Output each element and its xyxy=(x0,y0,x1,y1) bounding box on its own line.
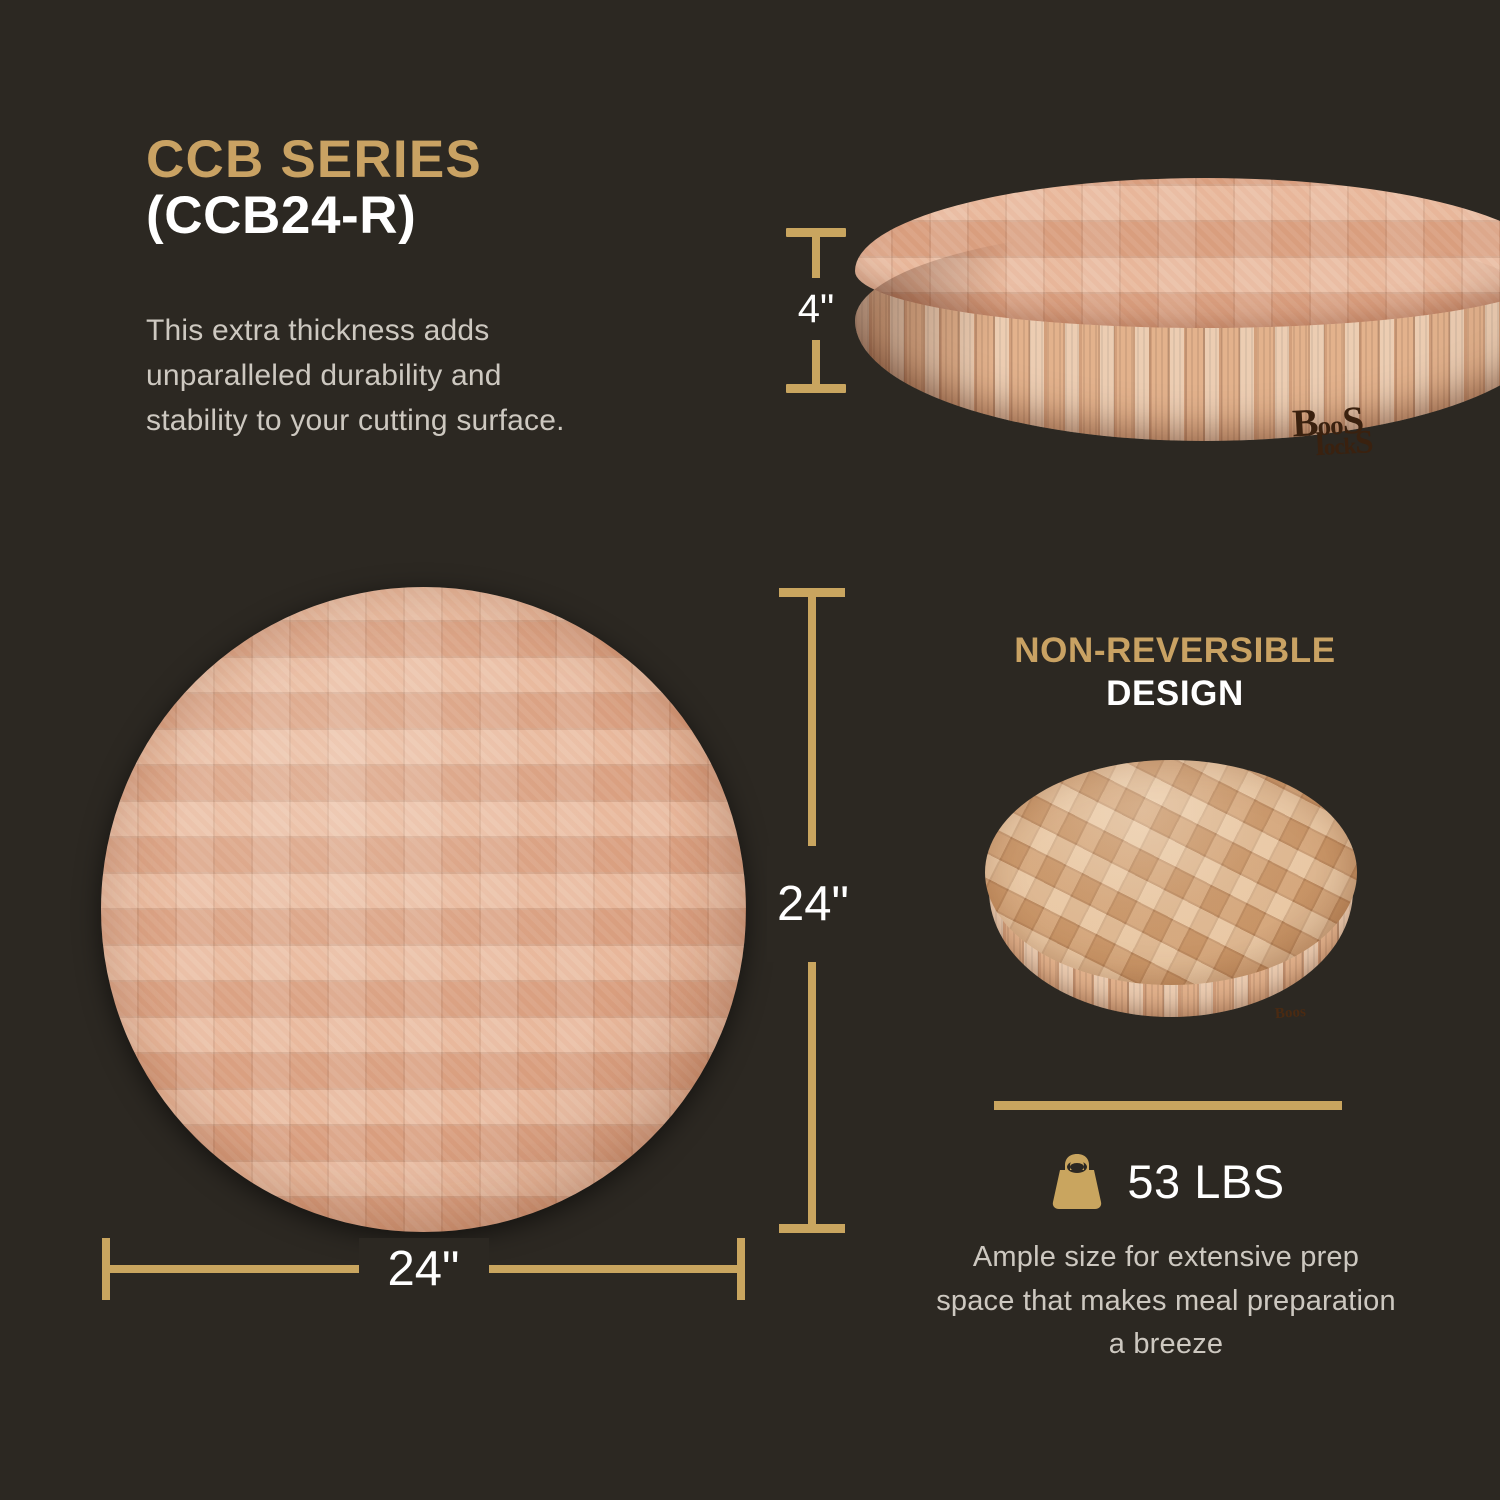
infographic-page: CCB SERIES (CCB24-R) This extra thicknes… xyxy=(0,0,1500,1500)
diameter-value-horizontal: 24" xyxy=(359,1238,489,1300)
non-reversible-line1: NON-REVERSIBLE xyxy=(940,630,1410,673)
right-panel-caption: Ample size for extensive prep space that… xyxy=(930,1236,1402,1367)
page-title: CCB SERIES (CCB24-R) xyxy=(146,132,706,244)
thickness-dimension: 4" xyxy=(786,228,846,393)
small-board-image: Boos xyxy=(985,760,1357,1065)
logo-s2: S xyxy=(1354,424,1373,461)
model-title: (CCB24-R) xyxy=(146,187,706,244)
diameter-dimension-vertical: 24" xyxy=(779,588,845,1233)
thickness-value: 4" xyxy=(786,278,846,340)
dimension-cap-right-icon xyxy=(737,1238,745,1300)
small-board-surface xyxy=(985,760,1357,985)
weight-kettlebell-icon xyxy=(1051,1152,1103,1210)
weight-row: 53 LBS xyxy=(994,1138,1342,1224)
boos-blocks-logo-icon: BooS lockS xyxy=(1291,395,1425,474)
large-board-image xyxy=(101,587,746,1232)
header-description: This extra thickness adds unparalleled d… xyxy=(146,308,566,443)
logo-ock: ock xyxy=(1323,433,1356,460)
diameter-value-vertical: 24" xyxy=(767,846,859,962)
top-board-surface xyxy=(855,178,1500,328)
boos-mini-logo-icon: Boos xyxy=(1274,1004,1306,1023)
non-reversible-line2: DESIGN xyxy=(940,673,1410,716)
section-divider xyxy=(994,1101,1342,1110)
non-reversible-heading: NON-REVERSIBLE DESIGN xyxy=(940,630,1410,715)
weight-value: 53 LBS xyxy=(1127,1154,1284,1209)
diameter-dimension-horizontal: 24" xyxy=(102,1238,745,1300)
series-title: CCB SERIES xyxy=(146,132,706,187)
dimension-cap-bottom-icon xyxy=(786,384,846,393)
dimension-cap-bottom-icon xyxy=(779,1224,845,1233)
